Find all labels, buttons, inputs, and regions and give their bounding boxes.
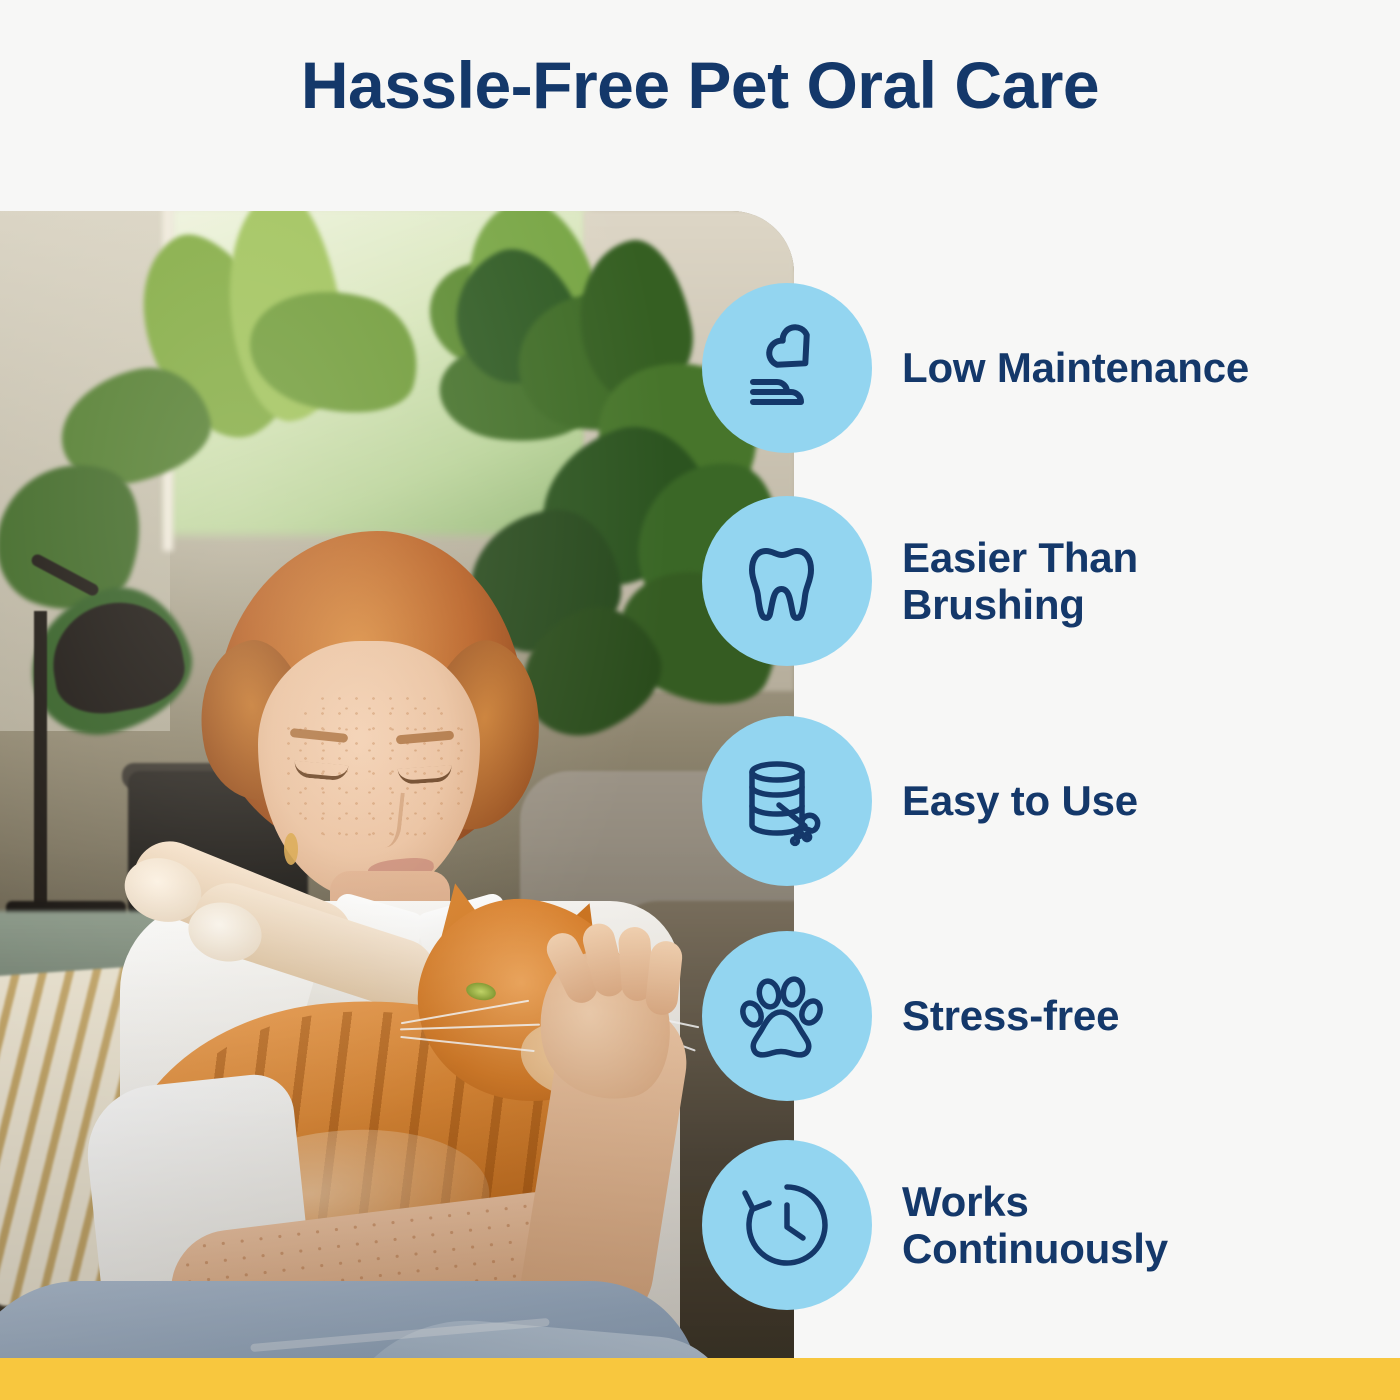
benefit-icon-bubble: [702, 931, 872, 1101]
benefit-icon-bubble: [702, 283, 872, 453]
paw-print-icon: [739, 968, 835, 1064]
benefit-icon-bubble: [702, 1140, 872, 1310]
desk-lamp-stem: [34, 611, 47, 911]
benefit-label: Works Continuously: [902, 1178, 1252, 1272]
benefit-item-stress-free[interactable]: Stress-free: [702, 931, 1119, 1101]
footer-accent-bar: [0, 1358, 1400, 1400]
hero-photo: [0, 211, 794, 1358]
benefit-label: Stress-free: [902, 992, 1119, 1039]
benefit-label: Easy to Use: [902, 777, 1138, 824]
tooth-icon: [741, 535, 833, 627]
benefit-icon-bubble: [702, 716, 872, 886]
person-earring: [284, 833, 298, 865]
benefit-label: Easier Than Brushing: [902, 534, 1252, 628]
benefit-item-easier-than-brushing[interactable]: Easier Than Brushing: [702, 496, 1252, 666]
hand-holding-heart-icon: [739, 320, 835, 416]
page-title: Hassle-Free Pet Oral Care: [301, 52, 1099, 118]
benefit-label: Low Maintenance: [902, 344, 1249, 391]
benefit-icon-bubble: [702, 496, 872, 666]
powder-jar-scoop-icon: [739, 753, 835, 849]
benefit-item-easy-to-use[interactable]: Easy to Use: [702, 716, 1138, 886]
benefit-item-works-continuously[interactable]: Works Continuously: [702, 1140, 1252, 1310]
clock-rotate-icon: [739, 1177, 835, 1273]
infographic-canvas: Hassle-Free Pet Oral Care: [0, 0, 1400, 1400]
header: Hassle-Free Pet Oral Care: [0, 0, 1400, 211]
benefits-list: Low Maintenance Easier Than Brushing: [702, 211, 1400, 1358]
benefit-item-low-maintenance[interactable]: Low Maintenance: [702, 283, 1249, 453]
